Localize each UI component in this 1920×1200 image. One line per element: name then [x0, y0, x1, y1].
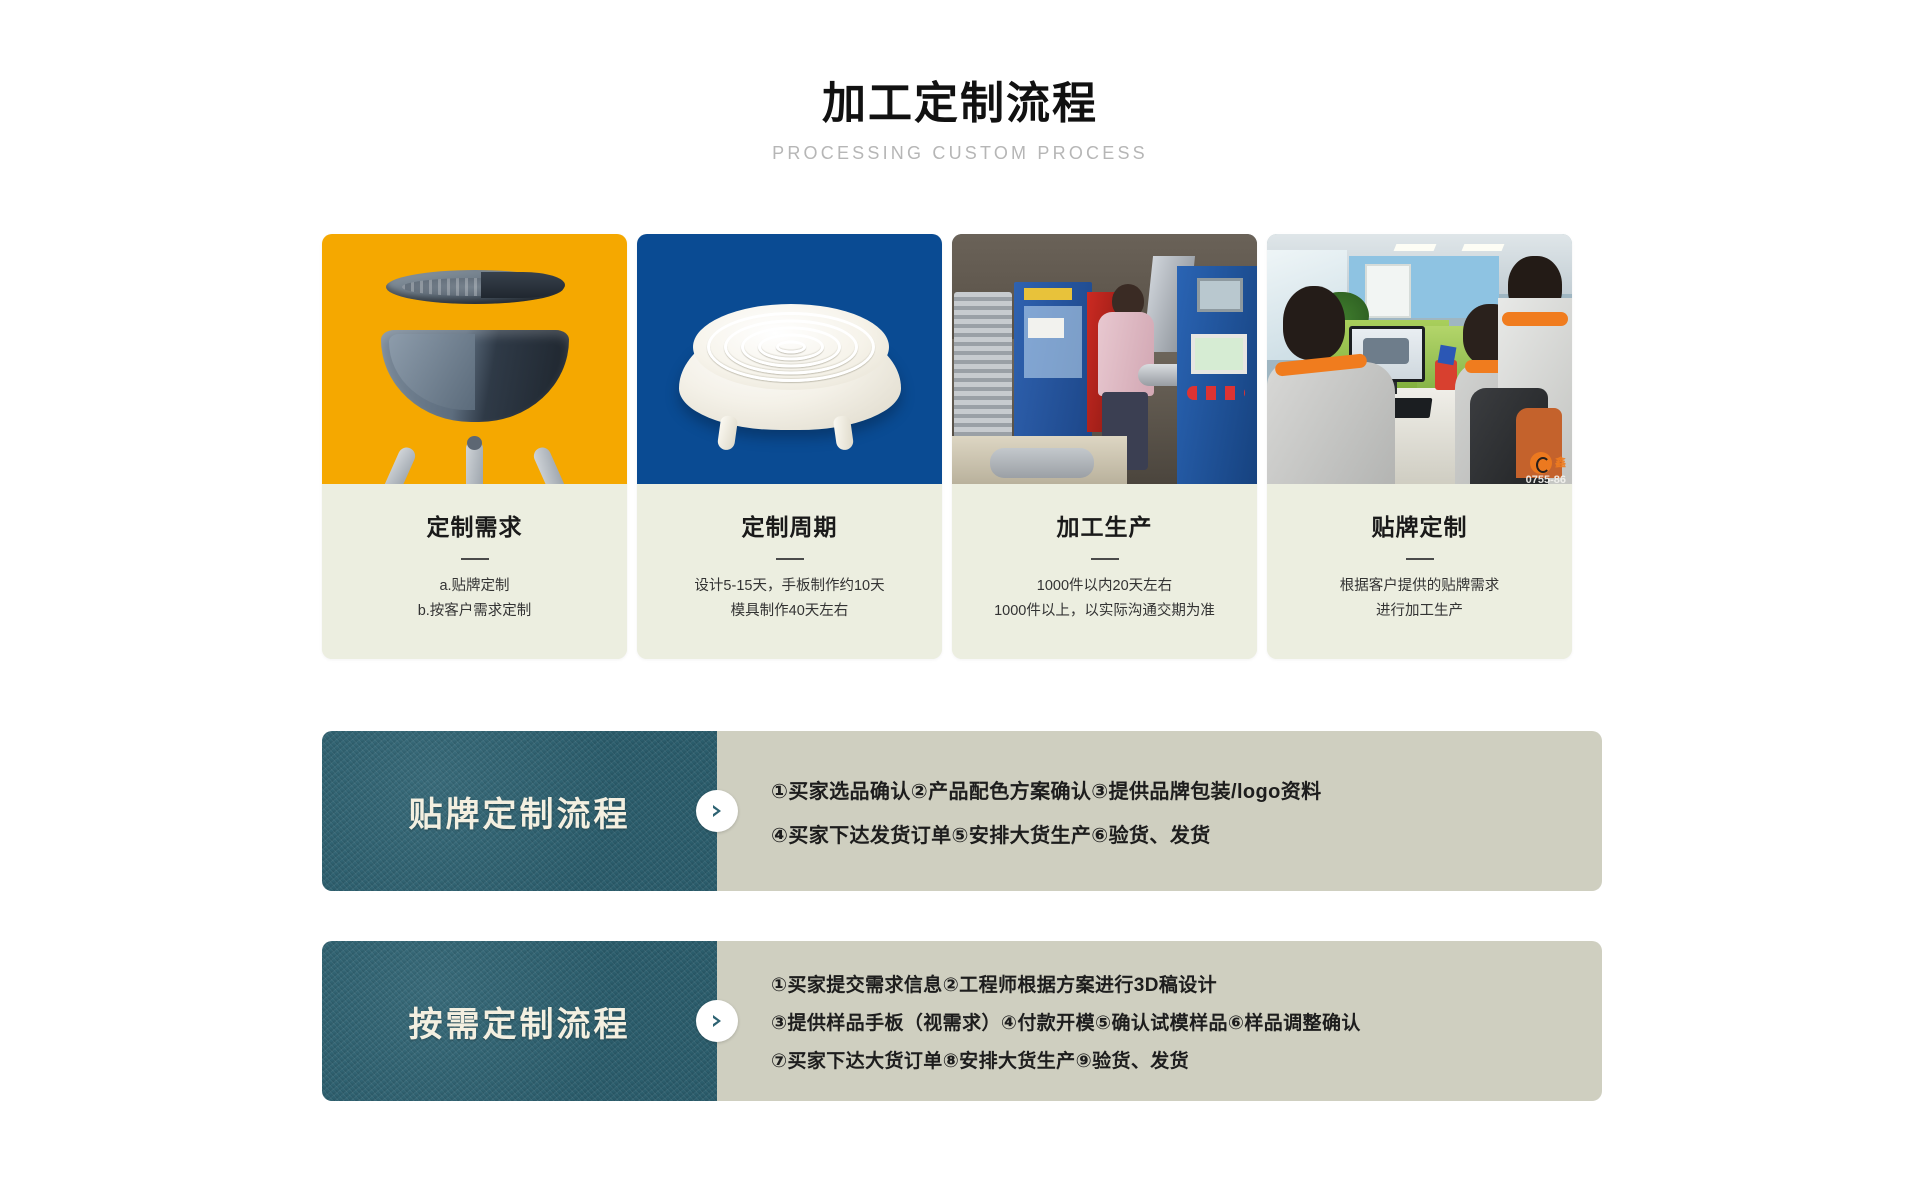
- process-step: ⑥样品调整确认: [1228, 1008, 1361, 1035]
- process-step: ④付款开模: [1001, 1008, 1095, 1035]
- card-3-media: [952, 234, 1257, 484]
- page-header: 加工定制流程 PROCESSING CUSTOM PROCESS: [0, 78, 1920, 164]
- card-2-body: 定制周期 设计5-15天，手板制作约10天 模具制作40天左右: [637, 484, 942, 659]
- watermark-phone: 0755-86: [1526, 474, 1566, 484]
- prototype-icon: [667, 292, 913, 452]
- process-step: ②工程师根据方案进行3D稿设计: [943, 970, 1217, 997]
- divider: [461, 558, 489, 560]
- process-step: ⑨验货、发货: [1076, 1046, 1190, 1073]
- card-title: 加工生产: [952, 508, 1257, 542]
- step-row: ③提供样品手板（视需求） ④付款开模 ⑤确认试模样品 ⑥样品调整确认: [771, 1002, 905, 1040]
- step-row: ④买家下达发货订单 ⑤安排大货生产 ⑥验货、发货: [771, 811, 905, 855]
- oem-process-banner: 贴牌定制流程 ①买家选品确认 ②产品配色方案确认 ③提供品牌包装/logo资料 …: [322, 731, 1602, 891]
- process-step: ⑧安排大货生产: [943, 1046, 1076, 1073]
- process-step: ⑤确认试模样品: [1095, 1008, 1228, 1035]
- factory-photo: [952, 234, 1257, 484]
- step-row: ⑦买家下达大货订单 ⑧安排大货生产 ⑨验货、发货: [771, 1040, 871, 1078]
- chevron-right-icon[interactable]: [696, 1000, 738, 1042]
- process-step: ①买家选品确认: [771, 775, 911, 804]
- process-cards: 定制需求 a.贴牌定制 b.按客户需求定制: [322, 234, 1602, 659]
- card-desc-line: 进行加工生产: [1279, 599, 1560, 624]
- page-root: 加工定制流程 PROCESSING CUSTOM PROCESS 定制需求: [0, 0, 1920, 1200]
- process-step: ⑤安排大货生产: [952, 819, 1092, 848]
- process-step: ②产品配色方案确认: [911, 775, 1092, 804]
- card-1-body: 定制需求 a.贴牌定制 b.按客户需求定制: [322, 484, 627, 659]
- card-desc-line: b.按客户需求定制: [334, 599, 615, 624]
- ondemand-process-banner: 按需定制流程 ①买家提交需求信息 ②工程师根据方案进行3D稿设计 ③提供样品手板…: [322, 941, 1602, 1101]
- card-title: 贴牌定制: [1267, 508, 1572, 542]
- page-title: 加工定制流程: [0, 78, 1920, 131]
- process-card-4[interactable]: 鑫 0755-86 贴牌定制 根据客户提供的贴牌需求 进行加工生产: [1267, 234, 1572, 659]
- step-row: ①买家提交需求信息 ②工程师根据方案进行3D稿设计: [771, 964, 939, 1002]
- divider: [776, 558, 804, 560]
- process-card-2[interactable]: 定制周期 设计5-15天，手板制作约10天 模具制作40天左右: [637, 234, 942, 659]
- process-step: ⑥验货、发货: [1091, 819, 1210, 848]
- card-4-media: 鑫 0755-86: [1267, 234, 1572, 484]
- card-1-media: [322, 234, 627, 484]
- company-watermark-logo: 鑫 0755-86: [1530, 452, 1566, 474]
- process-card-1[interactable]: 定制需求 a.贴牌定制 b.按客户需求定制: [322, 234, 627, 659]
- ondemand-banner-steps: ①买家提交需求信息 ②工程师根据方案进行3D稿设计 ③提供样品手板（视需求） ④…: [717, 941, 1602, 1101]
- card-desc-line: a.贴牌定制: [334, 574, 615, 599]
- card-3-body: 加工生产 1000件以内20天左右 1000件以上，以实际沟通交期为准: [952, 484, 1257, 659]
- step-row: ①买家选品确认 ②产品配色方案确认 ③提供品牌包装/logo资料: [771, 767, 939, 811]
- process-step: ⑦买家下达大货订单: [771, 1046, 943, 1073]
- card-desc-line: 根据客户提供的贴牌需求: [1279, 574, 1560, 599]
- oem-banner-steps: ①买家选品确认 ②产品配色方案确认 ③提供品牌包装/logo资料 ④买家下达发货…: [717, 731, 1602, 891]
- ondemand-banner-label: 按需定制流程: [322, 941, 717, 1101]
- oem-banner-label: 贴牌定制流程: [322, 731, 717, 891]
- card-desc-line: 设计5-15天，手板制作约10天: [649, 574, 930, 599]
- divider: [1406, 558, 1434, 560]
- card-desc-line: 1000件以上，以实际沟通交期为准: [964, 599, 1245, 624]
- exploded-product-icon: [322, 234, 627, 484]
- process-step: ④买家下达发货订单: [771, 819, 952, 848]
- divider: [1091, 558, 1119, 560]
- card-desc-line: 1000件以内20天左右: [964, 574, 1245, 599]
- card-title: 定制周期: [637, 508, 942, 542]
- card-title: 定制需求: [322, 508, 627, 542]
- watermark-text: 鑫: [1555, 458, 1566, 469]
- office-photo: 鑫 0755-86: [1267, 234, 1572, 484]
- banner-title: 按需定制流程: [409, 997, 631, 1046]
- page-subtitle: PROCESSING CUSTOM PROCESS: [0, 143, 1920, 164]
- card-2-media: [637, 234, 942, 484]
- card-4-body: 贴牌定制 根据客户提供的贴牌需求 进行加工生产: [1267, 484, 1572, 659]
- process-step: ③提供样品手板（视需求）: [771, 1008, 1001, 1035]
- process-step: ③提供品牌包装/logo资料: [1091, 775, 1321, 804]
- process-step: ①买家提交需求信息: [771, 970, 943, 997]
- banner-title: 贴牌定制流程: [409, 787, 631, 836]
- chevron-right-icon[interactable]: [696, 790, 738, 832]
- process-card-3[interactable]: 加工生产 1000件以内20天左右 1000件以上，以实际沟通交期为准: [952, 234, 1257, 659]
- card-desc-line: 模具制作40天左右: [649, 599, 930, 624]
- logo-mark-icon: [1530, 452, 1552, 474]
